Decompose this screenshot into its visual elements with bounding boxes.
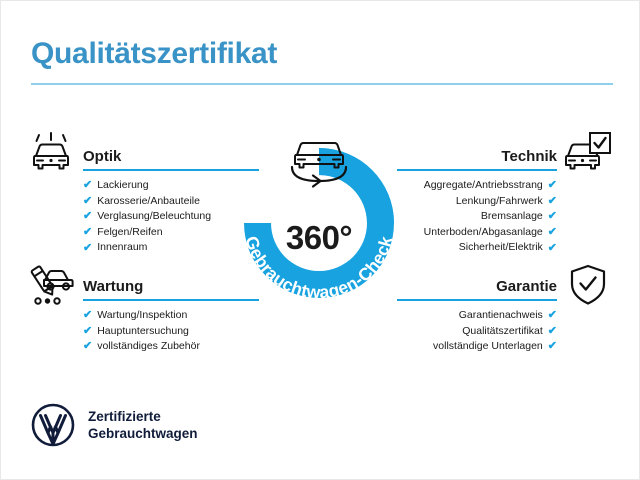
list-item-label: Bremsanlage <box>481 209 543 225</box>
list-item-label: Hauptuntersuchung <box>97 324 189 340</box>
section-title: Optik <box>83 148 121 165</box>
checklist: ✔ Wartung/Inspektion ✔ Hauptuntersuchung… <box>83 308 259 355</box>
check-icon: ✔ <box>548 243 557 254</box>
list-item-label: Innenraum <box>97 240 147 256</box>
check-icon: ✔ <box>548 310 557 321</box>
list-item-label: Sicherheit/Elektrik <box>459 240 543 256</box>
list-item-label: Wartung/Inspektion <box>97 308 187 324</box>
list-item-label: Lackierung <box>97 178 148 194</box>
vw-logo-icon <box>31 403 75 447</box>
checklist: Aggregate/Antriebsstrang ✔ Lenkung/Fahrw… <box>397 178 557 256</box>
check-icon: ✔ <box>548 341 557 352</box>
check-icon: ✔ <box>548 227 557 238</box>
list-item-label: vollständige Unterlagen <box>433 339 543 355</box>
car-service-pen-icon <box>28 264 74 311</box>
list-item: Garantienachweis ✔ <box>397 308 557 324</box>
title-divider <box>31 83 613 85</box>
check-icon: ✔ <box>548 180 557 191</box>
checklist: Garantienachweis ✔ Qualitätszertifikat ✔… <box>397 308 557 355</box>
badge-degrees: 360° <box>223 219 415 257</box>
list-item: vollständige Unterlagen ✔ <box>397 339 557 355</box>
check-icon: ✔ <box>83 180 92 191</box>
section-technik: Technik Aggregate/Antriebsstrang ✔ Lenku… <box>397 141 557 256</box>
list-item: Sicherheit/Elektrik ✔ <box>397 240 557 256</box>
check-icon: ✔ <box>548 211 557 222</box>
check-icon: ✔ <box>83 326 92 337</box>
list-item-label: Lenkung/Fahrwerk <box>456 194 543 210</box>
check-icon: ✔ <box>83 196 92 207</box>
list-item: Bremsanlage ✔ <box>397 209 557 225</box>
list-item-label: Qualitätszertifikat <box>462 324 543 340</box>
check-icon: ✔ <box>83 243 92 254</box>
list-item: Qualitätszertifikat ✔ <box>397 324 557 340</box>
section-title: Technik <box>501 148 557 165</box>
list-item: Aggregate/Antriebsstrang ✔ <box>397 178 557 194</box>
car-checkbox-icon <box>563 130 613 181</box>
page-title: Qualitätszertifikat <box>31 37 277 71</box>
section-garantie: Garantie Garantienachweis ✔ Qualitätszer… <box>397 271 557 355</box>
certificate-page: Qualitätszertifikat <box>1 1 639 479</box>
brand-text: Zertifizierte Gebrauchtwagen <box>88 408 198 442</box>
check-icon: ✔ <box>83 341 92 352</box>
list-item: Unterboden/Abgasanlage ✔ <box>397 225 557 241</box>
section-title: Garantie <box>496 278 557 295</box>
check-icon: ✔ <box>548 326 557 337</box>
list-item-label: Aggregate/Antriebsstrang <box>424 178 543 194</box>
badge-360-gebrauchtwagen-check: Gebrauchtwagen-Check 360° <box>223 123 415 311</box>
check-icon: ✔ <box>83 310 92 321</box>
section-header: Garantie <box>397 271 557 301</box>
check-icon: ✔ <box>83 227 92 238</box>
section-divider <box>397 169 557 171</box>
brand-line-2: Gebrauchtwagen <box>88 425 198 442</box>
list-item-label: Karosserie/Anbauteile <box>97 194 200 210</box>
list-item-label: vollständiges Zubehör <box>97 339 200 355</box>
list-item: ✔ vollständiges Zubehör <box>83 339 259 355</box>
list-item: Lenkung/Fahrwerk ✔ <box>397 194 557 210</box>
list-item-label: Verglasung/Beleuchtung <box>97 209 211 225</box>
shield-check-icon <box>569 264 607 311</box>
list-item-label: Garantienachweis <box>459 308 543 324</box>
check-icon: ✔ <box>83 211 92 222</box>
list-item-label: Felgen/Reifen <box>97 225 162 241</box>
brand-line-1: Zertifizierte <box>88 408 198 425</box>
list-item: ✔ Hauptuntersuchung <box>83 324 259 340</box>
section-title: Wartung <box>83 278 143 295</box>
check-icon: ✔ <box>548 196 557 207</box>
section-divider <box>397 299 557 301</box>
car-shine-icon <box>28 132 74 181</box>
list-item-label: Unterboden/Abgasanlage <box>424 225 543 241</box>
footer-branding: Zertifizierte Gebrauchtwagen <box>31 403 198 447</box>
section-header: Technik <box>397 141 557 171</box>
